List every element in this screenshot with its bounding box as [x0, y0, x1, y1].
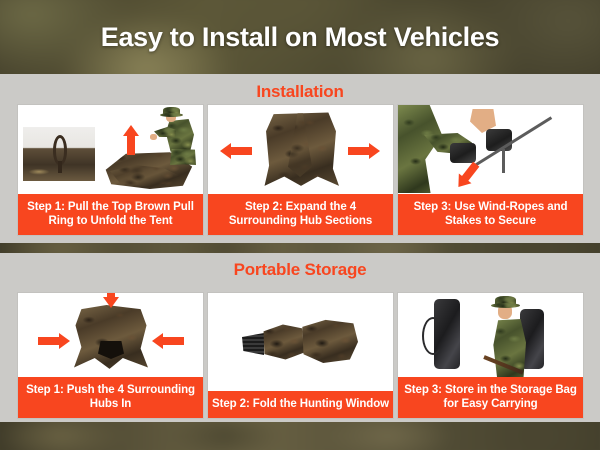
step-card-install-3[interactable]: Step 3: Use Wind-Ropes and Stakes to Sec…	[398, 105, 583, 235]
hunter-with-bag-figure	[478, 295, 558, 377]
page-title: Easy to Install on Most Vehicles	[0, 0, 600, 74]
step-caption-install-2: Step 2: Expand the 4 Surrounding Hub Sec…	[208, 194, 393, 235]
step-caption-storage-2: Step 2: Fold the Hunting Window	[208, 391, 393, 418]
storage-panel-row: Step 1: Push the 4 Surrounding Hubs In S…	[0, 293, 600, 418]
footer-band	[0, 422, 600, 450]
blind-collapsing-shape	[74, 305, 148, 373]
section-divider-band	[0, 243, 600, 253]
step-caption-install-1: Step 1: Pull the Top Brown Pull Ring to …	[18, 194, 203, 235]
rolled-tent-bundle-right	[300, 319, 358, 363]
step-caption-storage-1: Step 1: Push the 4 Surrounding Hubs In	[18, 377, 203, 418]
rolled-tent-bundle-left	[260, 323, 304, 361]
step-image-storage-3	[398, 293, 583, 377]
stake-crossbar	[502, 149, 505, 173]
hunter-hand	[150, 134, 157, 140]
pull-ring-inset-photo	[23, 127, 95, 181]
step-image-install-3	[398, 105, 583, 193]
arrow-up-icon	[123, 125, 139, 155]
arrow-left-icon	[220, 143, 252, 159]
ground-texture	[27, 167, 57, 175]
step-image-storage-1	[18, 293, 203, 377]
hunter-hat-brim	[160, 113, 183, 117]
storage-bag-strap	[422, 317, 444, 355]
rolled-tent-frame-end	[242, 333, 264, 355]
section-title-installation: Installation	[0, 82, 600, 102]
arrow-right-in-icon	[38, 333, 70, 349]
installation-panel-row: Step 1: Pull the Top Brown Pull Ring to …	[0, 105, 600, 235]
header-banner: Easy to Install on Most Vehicles	[0, 0, 600, 74]
step-caption-storage-3: Step 3: Store in the Storage Bag for Eas…	[398, 377, 583, 418]
step-image-install-2	[208, 105, 393, 193]
pull-ring-tail	[58, 161, 62, 173]
step-card-storage-3[interactable]: Step 3: Store in the Storage Bag for Eas…	[398, 293, 583, 418]
hunter-figure	[146, 107, 202, 165]
step-card-storage-1[interactable]: Step 1: Push the 4 Surrounding Hubs In	[18, 293, 203, 418]
step-card-install-1[interactable]: Step 1: Pull the Top Brown Pull Ring to …	[18, 105, 203, 235]
step-caption-install-3: Step 3: Use Wind-Ropes and Stakes to Sec…	[398, 194, 583, 235]
arrow-left-in-icon	[152, 333, 184, 349]
divider-background	[0, 243, 600, 253]
footer-background	[0, 422, 600, 450]
arrow-down-icon	[103, 293, 119, 307]
step-card-install-2[interactable]: Step 2: Expand the 4 Surrounding Hub Sec…	[208, 105, 393, 235]
step-card-storage-2[interactable]: Step 2: Fold the Hunting Window	[208, 293, 393, 418]
step-image-storage-2	[208, 293, 393, 377]
arrow-right-icon	[348, 143, 380, 159]
step-image-install-1	[18, 105, 203, 193]
section-title-portable-storage: Portable Storage	[0, 260, 600, 280]
hunter-legs	[170, 149, 196, 165]
hunter-hat-brim	[491, 303, 520, 308]
